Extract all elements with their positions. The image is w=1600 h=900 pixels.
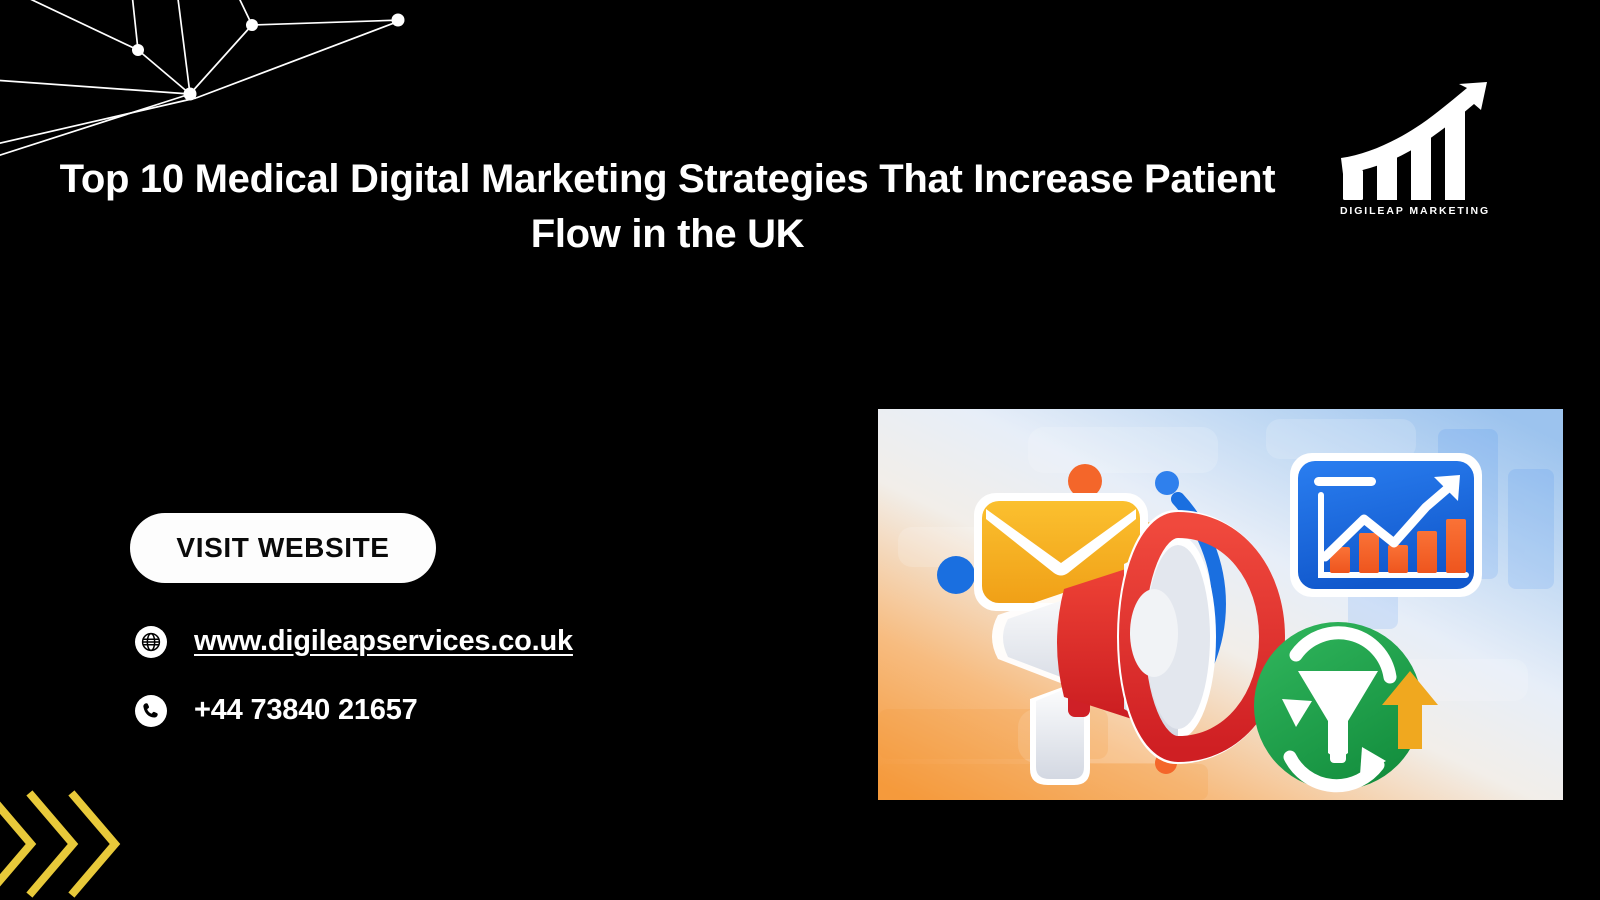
website-url[interactable]: www.digileapservices.co.uk — [194, 625, 573, 658]
phone-icon — [135, 695, 167, 727]
contact-website-row[interactable]: www.digileapservices.co.uk — [135, 625, 573, 658]
globe-icon — [135, 626, 167, 658]
triple-chevron-right-icon — [0, 786, 146, 900]
analytics-chart-card — [1290, 453, 1482, 597]
brand-logo: DIGILEAP MARKETING — [1335, 82, 1495, 234]
brand-wordmark: DIGILEAP MARKETING — [1335, 205, 1495, 217]
dot-orange — [1068, 464, 1102, 498]
page-title: Top 10 Medical Digital Marketing Strateg… — [40, 152, 1295, 262]
growth-chart-icon — [1335, 82, 1495, 204]
dot-blue — [1155, 471, 1179, 495]
hero-illustration — [878, 409, 1563, 800]
visit-website-button[interactable]: VISIT WEBSITE — [130, 513, 436, 583]
dot-blue — [937, 556, 975, 594]
phone-number[interactable]: +44 73840 21657 — [194, 694, 418, 727]
contact-phone-row[interactable]: +44 73840 21657 — [135, 694, 418, 727]
